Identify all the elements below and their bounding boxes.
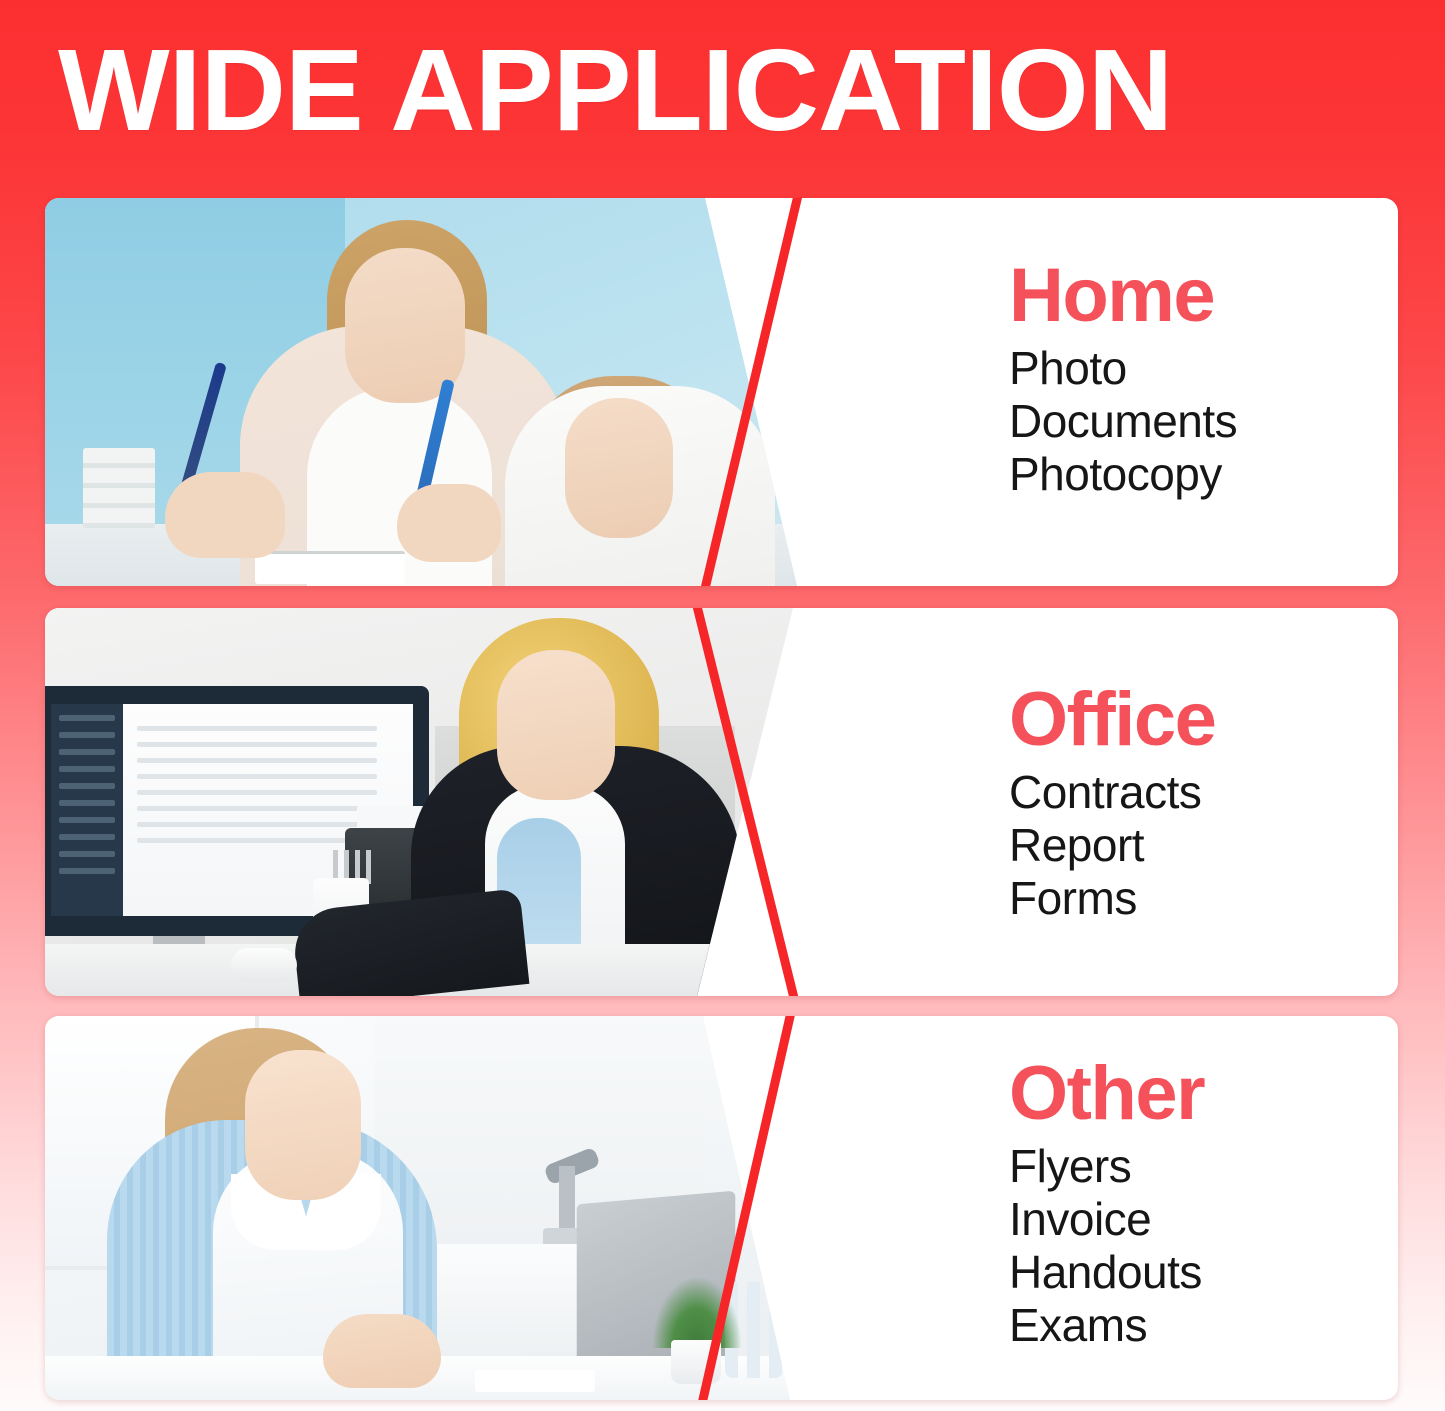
card-item-list-office: Contracts Report Forms <box>1009 766 1398 925</box>
page-title: WIDE APPLICATION <box>58 30 1282 150</box>
screen-text-lines-shape <box>137 726 377 854</box>
woman-hands-shape <box>323 1314 441 1388</box>
list-item: Forms <box>1009 872 1398 925</box>
application-card-office: Office Contracts Report Forms <box>45 608 1398 996</box>
card-heading-other: Other <box>1009 1054 1398 1134</box>
paper-shape <box>475 1370 595 1392</box>
list-item: Flyers <box>1009 1140 1398 1193</box>
microscope-stand-shape <box>559 1166 575 1236</box>
books-shape <box>83 448 155 528</box>
application-card-other: Other Flyers Invoice Handouts Exams <box>45 1016 1398 1400</box>
list-item: Invoice <box>1009 1193 1398 1246</box>
card-item-list-home: Photo Documents Photocopy <box>1009 342 1398 501</box>
notepad-shape <box>255 551 405 584</box>
list-item: Documents <box>1009 395 1398 448</box>
mouse-shape <box>231 948 297 982</box>
woman-hand-shape <box>165 472 285 558</box>
girl-head-shape <box>565 398 673 538</box>
wide-application-poster: WIDE APPLICATION H <box>0 0 1445 1411</box>
card-text-panel-other: Other Flyers Invoice Handouts Exams <box>962 1016 1398 1400</box>
card-heading-office: Office <box>1009 680 1398 760</box>
card-heading-home: Home <box>1009 256 1398 336</box>
card-text-panel-office: Office Contracts Report Forms <box>962 608 1398 996</box>
list-item: Photocopy <box>1009 448 1398 501</box>
card-item-list-other: Flyers Invoice Handouts Exams <box>1009 1140 1398 1352</box>
photo-scene-lab-laptop <box>45 1016 845 1400</box>
woman-head-shape <box>245 1050 361 1200</box>
list-item: Contracts <box>1009 766 1398 819</box>
girl-hand-shape <box>397 484 501 562</box>
card-photo-other <box>45 1016 845 1400</box>
list-item: Handouts <box>1009 1246 1398 1299</box>
list-item: Photo <box>1009 342 1398 395</box>
card-text-panel-home: Home Photo Documents Photocopy <box>962 198 1398 586</box>
photo-scene-office-desk <box>45 608 845 996</box>
list-item: Report <box>1009 819 1398 872</box>
card-photo-office <box>45 608 845 996</box>
list-item: Exams <box>1009 1299 1398 1352</box>
screen-sidebar-shape <box>51 704 123 916</box>
application-card-home: Home Photo Documents Photocopy <box>45 198 1398 586</box>
woman-head-shape <box>497 650 615 800</box>
